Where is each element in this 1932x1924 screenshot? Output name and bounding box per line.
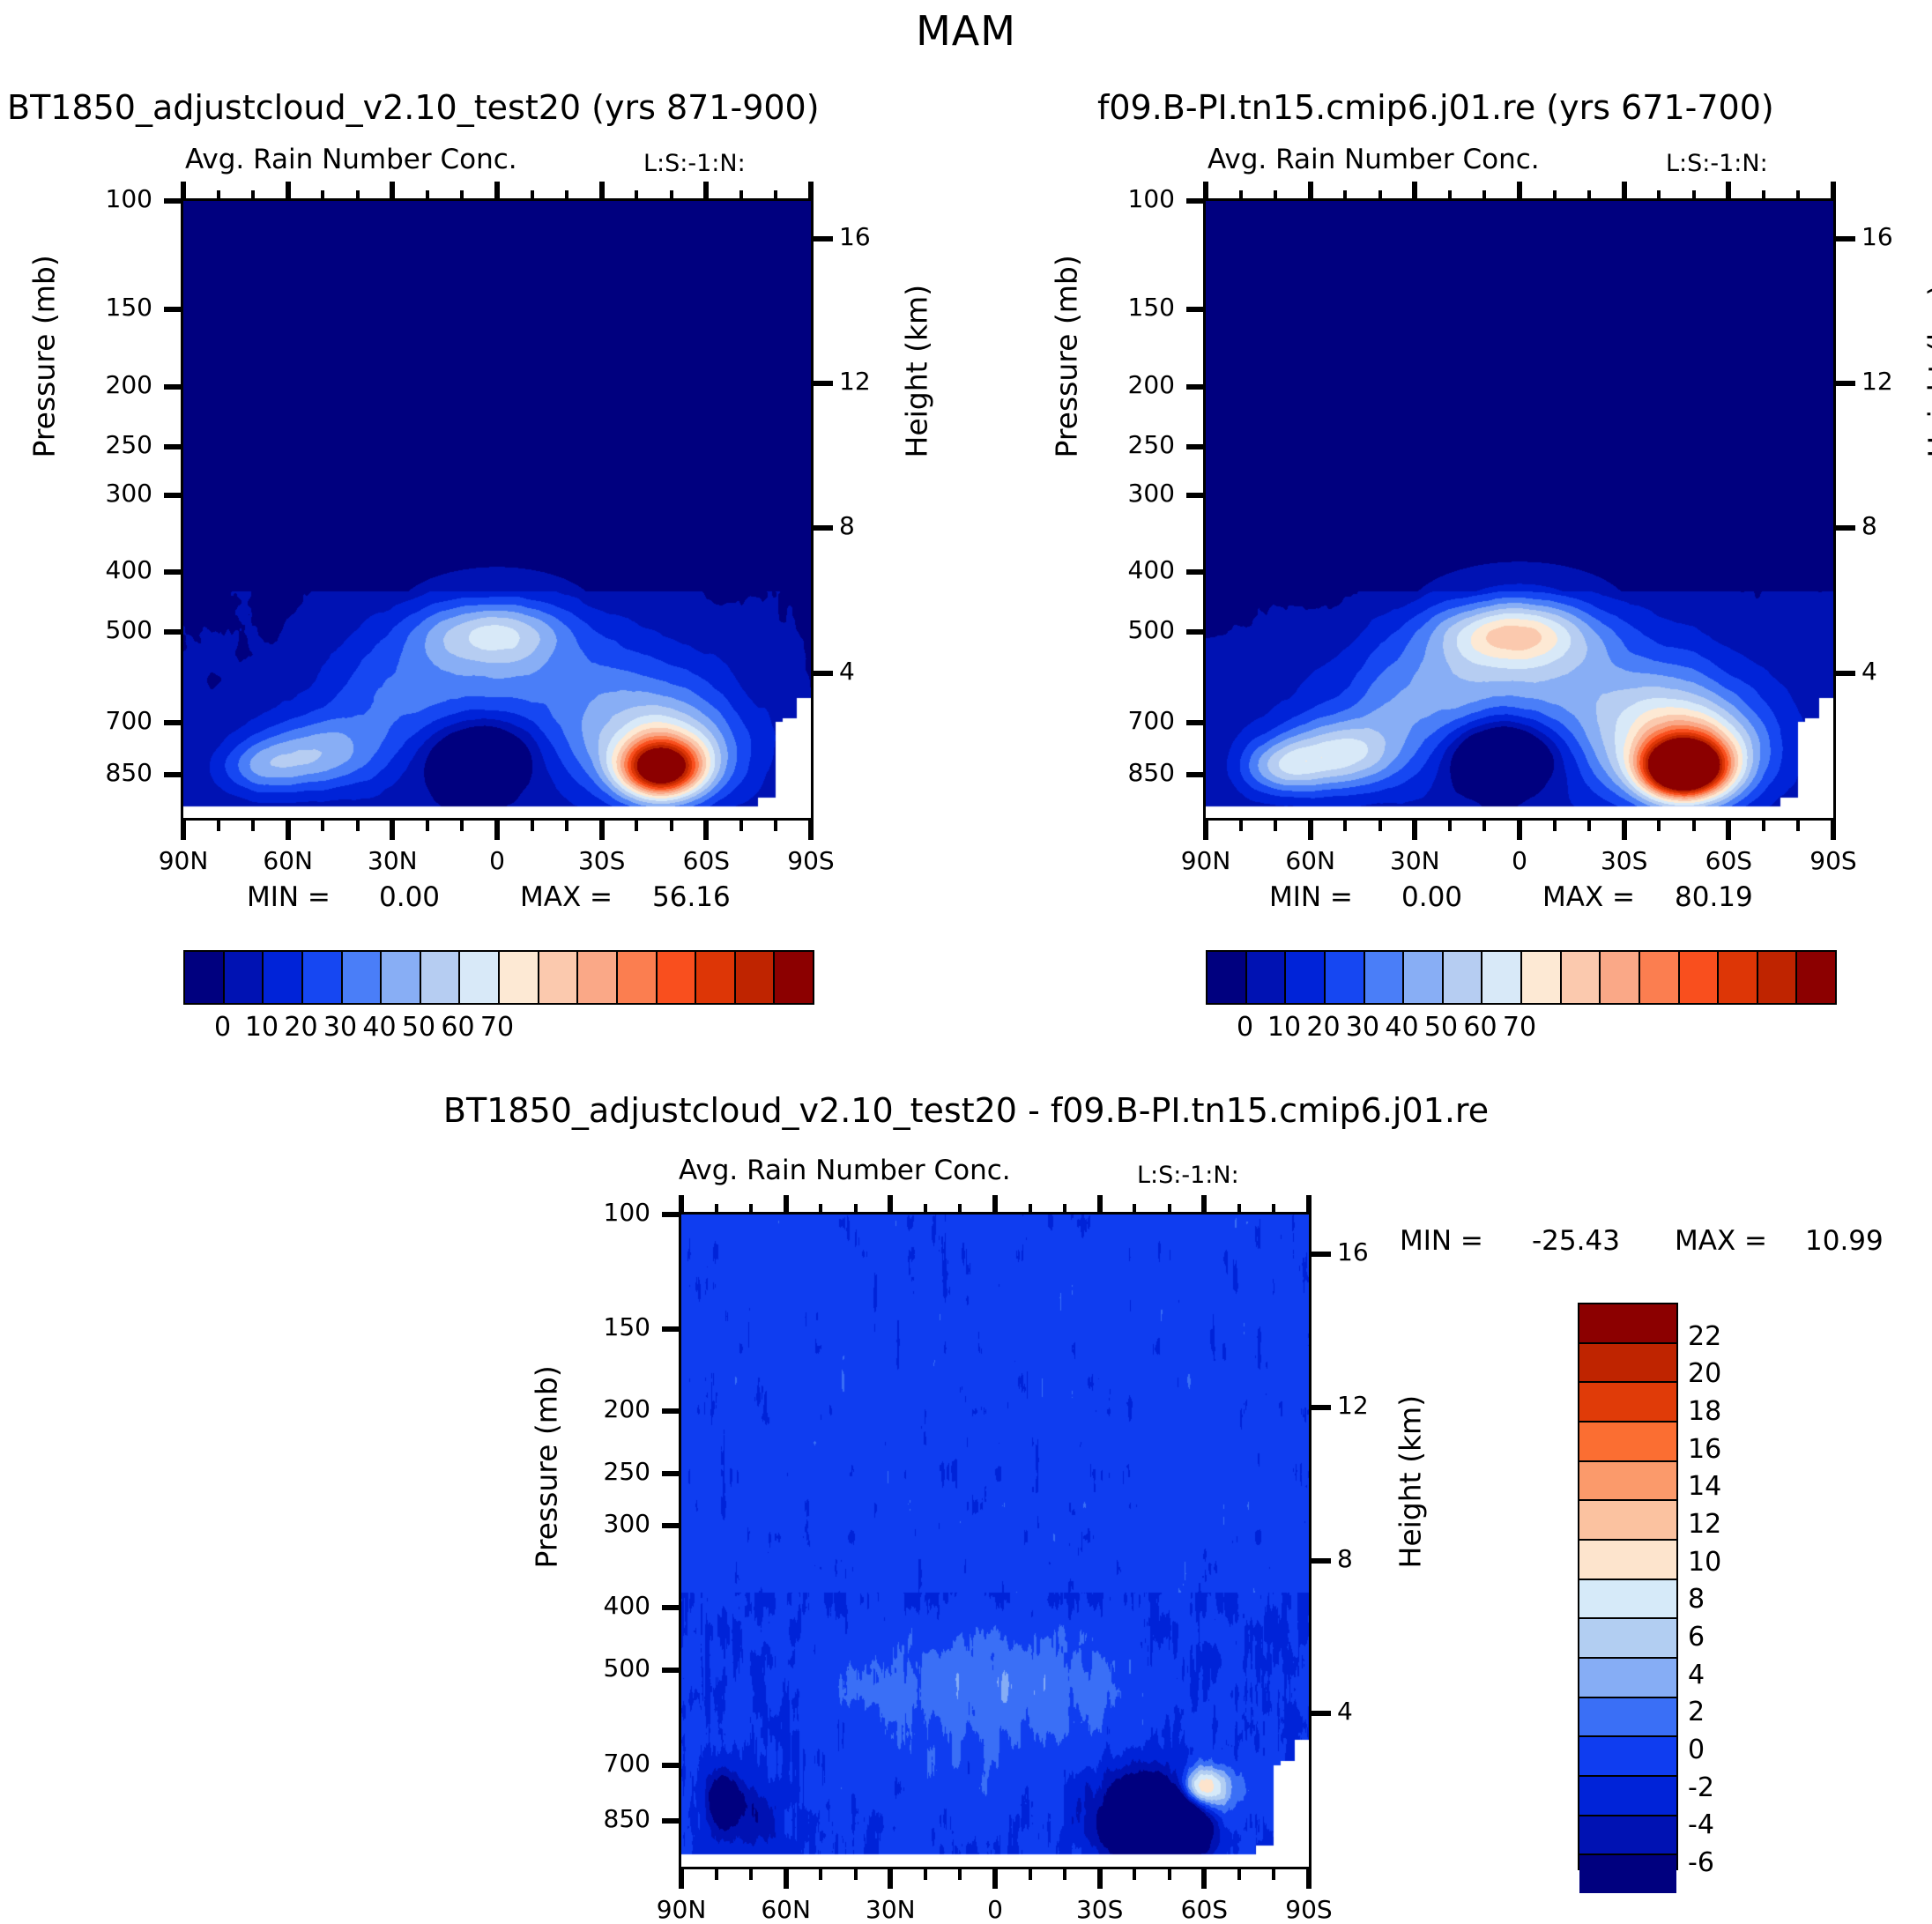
x-axis-tick-label: 0 <box>942 1895 1048 1924</box>
colorbar-segment[interactable] <box>460 952 500 1003</box>
colorbar-segment[interactable] <box>500 952 539 1003</box>
diff-panel-max-value: 10.99 <box>1805 1225 1884 1257</box>
y2-axis-tick-label: 8 <box>839 511 901 540</box>
y2-axis-tick-mark <box>1312 1405 1331 1410</box>
y-axis-tick-label: 100 <box>527 1198 650 1227</box>
y-axis-tick-label: 400 <box>1051 555 1175 584</box>
y-axis-tick-label: 300 <box>29 479 152 508</box>
colorbar-segment[interactable] <box>1579 1659 1676 1698</box>
x-axis-tick-mark <box>1308 821 1313 840</box>
colorbar-segment[interactable] <box>1579 1619 1676 1659</box>
y-axis-tick-mark <box>662 1326 681 1332</box>
x-axis-minor-tick <box>1482 821 1486 831</box>
right-panel-units: L:S:-1:N: <box>1666 150 1768 177</box>
y-axis-tick-label: 700 <box>1051 706 1175 735</box>
y2-axis-tick-label: 16 <box>1337 1237 1399 1267</box>
figure-season-title: MAM <box>0 7 1932 55</box>
x-axis-minor-tick <box>774 821 777 831</box>
x-axis-minor-tick <box>1448 821 1452 831</box>
diff-panel-plot-area <box>679 1212 1312 1869</box>
colorbar-segment[interactable] <box>1326 952 1365 1003</box>
x-axis-top-tick <box>1726 182 1731 201</box>
left-panel-min-value: 0.00 <box>379 881 440 913</box>
x-axis-minor-tick <box>635 821 638 831</box>
y-axis-tick-label: 300 <box>527 1509 650 1538</box>
x-axis-minor-tick <box>715 1869 718 1880</box>
colorbar-segment[interactable] <box>578 952 618 1003</box>
diff-panel-subtitle: Avg. Rain Number Conc. <box>679 1155 1011 1186</box>
colorbar-segment[interactable] <box>1719 952 1758 1003</box>
x-axis-minor-tick <box>1272 1869 1275 1880</box>
colorbar-tick-label: 6 <box>1688 1622 1767 1653</box>
left-panel-plot-area <box>181 198 814 821</box>
x-axis-tick-label: 90S <box>1256 1895 1362 1924</box>
x-axis-minor-tick <box>426 821 429 831</box>
y-axis-tick-label: 200 <box>527 1394 650 1423</box>
y-axis-tick-mark <box>164 307 183 312</box>
y2-axis-tick-label: 8 <box>1337 1544 1399 1573</box>
x-axis-top-tick <box>1203 182 1208 201</box>
x-axis-minor-tick <box>1063 1869 1066 1880</box>
y-axis-tick-mark <box>1186 444 1206 449</box>
y-axis-tick-label: 200 <box>1051 370 1175 399</box>
right-panel-title: f09.B-PI.tn15.cmip6.j01.re (yrs 671-700) <box>1097 88 1774 127</box>
x-axis-top-tick <box>1306 1195 1312 1215</box>
x-axis-tick-label: 0 <box>1467 846 1572 875</box>
x-axis-tick-label: 90N <box>130 846 236 875</box>
x-axis-top-minor-tick <box>749 1204 753 1215</box>
x-axis-top-tick <box>390 182 395 201</box>
y-axis-tick-mark <box>164 569 183 575</box>
colorbar-segment[interactable] <box>1601 952 1640 1003</box>
colorbar-segment[interactable] <box>1562 952 1601 1003</box>
y-axis-tick-mark <box>164 444 183 449</box>
x-axis-top-minor-tick <box>1448 190 1452 201</box>
colorbar-segment[interactable] <box>539 952 579 1003</box>
y2-axis-tick-mark <box>814 671 833 676</box>
x-axis-top-minor-tick <box>460 190 464 201</box>
right-panel-y2-axis-label: Height (km) <box>1922 264 1932 458</box>
x-axis-minor-tick <box>1796 821 1800 831</box>
y2-axis-tick-mark <box>1836 236 1855 241</box>
x-axis-minor-tick <box>565 821 568 831</box>
y2-axis-tick-mark <box>1836 525 1855 531</box>
diff-panel-min-label: MIN = <box>1400 1225 1483 1257</box>
x-axis-minor-tick <box>739 821 743 831</box>
colorbar-segment[interactable] <box>1404 952 1444 1003</box>
y-axis-tick-label: 100 <box>1051 184 1175 213</box>
x-axis-top-minor-tick <box>670 190 673 201</box>
y-axis-tick-mark <box>662 1668 681 1673</box>
colorbar-segment[interactable] <box>1482 952 1522 1003</box>
y-axis-tick-mark <box>1186 569 1206 575</box>
x-axis-top-minor-tick <box>1274 190 1277 201</box>
y-axis-tick-mark <box>662 1408 681 1414</box>
x-axis-tick-mark <box>494 821 500 840</box>
y-axis-tick-label: 250 <box>29 430 152 459</box>
y-axis-tick-label: 400 <box>527 1591 650 1620</box>
x-axis-top-minor-tick <box>426 190 429 201</box>
colorbar-tick-label: 4 <box>1688 1660 1767 1690</box>
left-panel-units: L:S:-1:N: <box>643 150 746 177</box>
x-axis-tick-label: 60S <box>1676 846 1781 875</box>
colorbar-tick-label: 12 <box>1688 1509 1767 1540</box>
x-axis-tick-mark <box>1831 821 1836 840</box>
y-axis-tick-label: 250 <box>527 1457 650 1486</box>
diff-panel-min-value: -25.43 <box>1532 1225 1620 1257</box>
x-axis-top-tick <box>286 182 291 201</box>
x-axis-minor-tick <box>749 1869 753 1880</box>
colorbar-segment[interactable] <box>1579 1777 1676 1816</box>
left-panel-y2-axis-label: Height (km) <box>900 264 934 458</box>
x-axis-minor-tick <box>1762 821 1765 831</box>
colorbar-segment[interactable] <box>421 952 461 1003</box>
x-axis-tick-label: 30N <box>837 1895 943 1924</box>
x-axis-minor-tick <box>924 1869 927 1880</box>
x-axis-top-minor-tick <box>1762 190 1765 201</box>
colorbar-tick-label: -6 <box>1688 1847 1767 1878</box>
x-axis-tick-mark <box>808 821 814 840</box>
y-axis-tick-mark <box>662 1471 681 1476</box>
y-axis-tick-label: 300 <box>1051 479 1175 508</box>
x-axis-top-minor-tick <box>1692 190 1696 201</box>
colorbar-segment[interactable] <box>1579 1541 1676 1580</box>
y-axis-tick-mark <box>164 772 183 777</box>
y-axis-tick-mark <box>164 720 183 725</box>
colorbar-segment[interactable] <box>658 952 697 1003</box>
y2-axis-tick-mark <box>814 381 833 386</box>
x-axis-top-tick <box>599 182 605 201</box>
y2-axis-tick-label: 8 <box>1861 511 1923 540</box>
x-axis-minor-tick <box>819 1869 822 1880</box>
colorbar-tick-label: 22 <box>1688 1321 1767 1352</box>
x-axis-minor-tick <box>1239 821 1243 831</box>
colorbar-segment[interactable] <box>1797 952 1835 1003</box>
x-axis-minor-tick <box>460 821 464 831</box>
y2-axis-tick-mark <box>1312 1252 1331 1257</box>
y-axis-tick-label: 500 <box>1051 615 1175 644</box>
x-axis-tick-mark <box>286 821 291 840</box>
x-axis-tick-mark <box>1726 821 1731 840</box>
right-panel-min-value: 0.00 <box>1401 881 1462 913</box>
colorbar-segment[interactable] <box>1579 1304 1676 1344</box>
colorbar-segment[interactable] <box>1680 952 1720 1003</box>
left-panel-title: BT1850_adjustcloud_v2.10_test20 (yrs 871… <box>7 88 820 127</box>
x-axis-tick-mark <box>703 821 709 840</box>
y-axis-tick-label: 150 <box>1051 293 1175 322</box>
x-axis-top-minor-tick <box>958 1204 962 1215</box>
colorbar-segment[interactable] <box>225 952 264 1003</box>
x-axis-tick-label: 30N <box>339 846 445 875</box>
colorbar-tick-label: 70 <box>1493 1012 1546 1043</box>
x-axis-top-minor-tick <box>1587 190 1591 201</box>
colorbar-segment[interactable] <box>303 952 343 1003</box>
y2-axis-tick-mark <box>1312 1558 1331 1564</box>
x-axis-minor-tick <box>1237 1869 1241 1880</box>
x-axis-minor-tick <box>1657 821 1661 831</box>
x-axis-top-minor-tick <box>1239 190 1243 201</box>
right-panel-colorbar[interactable] <box>1206 950 1837 1005</box>
x-axis-tick-label: 60N <box>733 1895 839 1924</box>
x-axis-top-minor-tick <box>635 190 638 201</box>
x-axis-tick-mark <box>1203 821 1208 840</box>
x-axis-top-tick <box>888 1195 893 1215</box>
colorbar-tick-label: 0 <box>1688 1735 1767 1765</box>
left-panel-colorbar[interactable] <box>183 950 814 1005</box>
x-axis-minor-tick <box>217 821 220 831</box>
colorbar-segment[interactable] <box>1579 1423 1676 1462</box>
colorbar-tick-label: 10 <box>1688 1547 1767 1578</box>
x-axis-top-minor-tick <box>1657 190 1661 201</box>
colorbar-segment[interactable] <box>618 952 658 1003</box>
x-axis-top-minor-tick <box>1796 190 1800 201</box>
y2-axis-tick-mark <box>1312 1711 1331 1716</box>
right-panel-max-label: MAX = <box>1542 881 1635 913</box>
x-axis-top-minor-tick <box>1029 1204 1032 1215</box>
diff-panel-title: BT1850_adjustcloud_v2.10_test20 - f09.B-… <box>0 1091 1932 1130</box>
colorbar-tick-label: -2 <box>1688 1772 1767 1803</box>
x-axis-top-tick <box>679 1195 684 1215</box>
y-axis-tick-label: 700 <box>527 1749 650 1778</box>
x-axis-top-tick <box>784 1195 789 1215</box>
x-axis-top-minor-tick <box>251 190 255 201</box>
colorbar-segment[interactable] <box>1579 1698 1676 1738</box>
x-axis-minor-tick <box>1587 821 1591 831</box>
x-axis-minor-tick <box>1692 821 1696 831</box>
y-axis-tick-label: 400 <box>29 555 152 584</box>
x-axis-minor-tick <box>321 821 324 831</box>
x-axis-minor-tick <box>1553 821 1557 831</box>
x-axis-top-tick <box>1412 182 1417 201</box>
x-axis-top-tick <box>181 182 186 201</box>
right-panel-min-label: MIN = <box>1269 881 1353 913</box>
colorbar-segment[interactable] <box>1522 952 1562 1003</box>
y-axis-tick-mark <box>1186 720 1206 725</box>
x-axis-minor-tick <box>1168 1869 1171 1880</box>
colorbar-segment[interactable] <box>775 952 813 1003</box>
x-axis-top-minor-tick <box>356 190 360 201</box>
x-axis-top-minor-tick <box>715 1204 718 1215</box>
x-axis-minor-tick <box>1133 1869 1136 1880</box>
x-axis-top-tick <box>494 182 500 201</box>
y2-axis-tick-label: 16 <box>1861 222 1923 251</box>
y2-axis-tick-mark <box>814 525 833 531</box>
x-axis-tick-label: 60N <box>1258 846 1364 875</box>
y-axis-tick-label: 500 <box>29 615 152 644</box>
left-panel-min-label: MIN = <box>247 881 331 913</box>
y2-axis-tick-mark <box>1836 671 1855 676</box>
colorbar-tick-label: 8 <box>1688 1584 1767 1615</box>
colorbar-tick-label: 70 <box>471 1012 524 1043</box>
x-axis-tick-label: 90S <box>758 846 864 875</box>
x-axis-minor-tick <box>356 821 360 831</box>
x-axis-top-tick <box>1097 1195 1103 1215</box>
diff-panel-contour-canvas <box>681 1215 1309 1867</box>
x-axis-minor-tick <box>854 1869 858 1880</box>
x-axis-minor-tick <box>251 821 255 831</box>
x-axis-top-tick <box>808 182 814 201</box>
x-axis-top-tick <box>1622 182 1627 201</box>
x-axis-minor-tick <box>670 821 673 831</box>
x-axis-tick-label: 0 <box>444 846 550 875</box>
y-axis-tick-label: 850 <box>527 1804 650 1833</box>
x-axis-top-minor-tick <box>1063 1204 1066 1215</box>
x-axis-top-minor-tick <box>1553 190 1557 201</box>
y-axis-tick-label: 250 <box>1051 430 1175 459</box>
x-axis-top-minor-tick <box>1482 190 1486 201</box>
y-axis-tick-mark <box>164 629 183 635</box>
colorbar-segment[interactable] <box>1207 952 1247 1003</box>
x-axis-minor-tick <box>531 821 534 831</box>
colorbar-segment[interactable] <box>1579 1383 1676 1423</box>
x-axis-top-minor-tick <box>565 190 568 201</box>
x-axis-tick-label: 60S <box>1151 1895 1257 1924</box>
left-panel-max-value: 56.16 <box>652 881 731 913</box>
y-axis-tick-mark <box>1186 629 1206 635</box>
x-axis-tick-label: 90N <box>1153 846 1259 875</box>
x-axis-tick-mark <box>390 821 395 840</box>
x-axis-top-minor-tick <box>321 190 324 201</box>
colorbar-segment[interactable] <box>382 952 421 1003</box>
colorbar-tick-label: 16 <box>1688 1434 1767 1465</box>
diff-panel-units: L:S:-1:N: <box>1137 1162 1239 1189</box>
x-axis-minor-tick <box>1343 821 1347 831</box>
colorbar-segment[interactable] <box>1247 952 1287 1003</box>
colorbar-tick-label: 2 <box>1688 1697 1767 1727</box>
x-axis-top-minor-tick <box>739 190 743 201</box>
colorbar-tick-label: 18 <box>1688 1396 1767 1427</box>
y-axis-tick-mark <box>662 1523 681 1528</box>
y-axis-tick-label: 150 <box>527 1312 650 1341</box>
x-axis-top-minor-tick <box>1168 1204 1171 1215</box>
x-axis-tick-mark <box>1412 821 1417 840</box>
x-axis-tick-mark <box>599 821 605 840</box>
x-axis-top-tick <box>992 1195 998 1215</box>
y-axis-tick-label: 500 <box>527 1653 650 1683</box>
y-axis-tick-mark <box>1186 307 1206 312</box>
colorbar-segment[interactable] <box>1579 1580 1676 1620</box>
colorbar-segment[interactable] <box>1579 1501 1676 1541</box>
colorbar-segment[interactable] <box>185 952 225 1003</box>
y2-axis-tick-label: 12 <box>1337 1391 1399 1420</box>
x-axis-tick-label: 30S <box>1047 1895 1153 1924</box>
y-axis-tick-label: 850 <box>1051 758 1175 787</box>
colorbar-segment[interactable] <box>696 952 736 1003</box>
x-axis-top-minor-tick <box>217 190 220 201</box>
diff-panel-colorbar[interactable] <box>1578 1303 1678 1870</box>
diff-panel-max-label: MAX = <box>1675 1225 1767 1257</box>
colorbar-segment[interactable] <box>1579 1462 1676 1502</box>
colorbar-segment[interactable] <box>264 952 303 1003</box>
x-axis-top-minor-tick <box>531 190 534 201</box>
x-axis-tick-label: 30N <box>1362 846 1468 875</box>
x-axis-top-tick <box>703 182 709 201</box>
x-axis-minor-tick <box>1274 821 1277 831</box>
x-axis-top-minor-tick <box>1272 1204 1275 1215</box>
y-axis-tick-mark <box>662 1763 681 1768</box>
colorbar-segment[interactable] <box>1579 1816 1676 1856</box>
y2-axis-tick-label: 16 <box>839 222 901 251</box>
y2-axis-tick-label: 12 <box>1861 367 1923 396</box>
colorbar-segment[interactable] <box>1579 1855 1676 1893</box>
x-axis-tick-label: 30S <box>1572 846 1677 875</box>
right-panel-plot-area <box>1203 198 1836 821</box>
y-axis-tick-mark <box>662 1605 681 1610</box>
y-axis-tick-mark <box>1186 493 1206 498</box>
x-axis-tick-label: 60S <box>653 846 759 875</box>
x-axis-minor-tick <box>1029 1869 1032 1880</box>
y-axis-tick-mark <box>164 384 183 390</box>
x-axis-top-tick <box>1831 182 1836 201</box>
colorbar-segment[interactable] <box>1286 952 1326 1003</box>
x-axis-top-minor-tick <box>1378 190 1382 201</box>
colorbar-segment[interactable] <box>343 952 383 1003</box>
colorbar-tick-label: 14 <box>1688 1471 1767 1502</box>
x-axis-top-tick <box>1201 1195 1207 1215</box>
y2-axis-tick-mark <box>1836 381 1855 386</box>
x-axis-top-minor-tick <box>1343 190 1347 201</box>
x-axis-tick-mark <box>181 821 186 840</box>
y2-axis-tick-label: 4 <box>1861 657 1923 686</box>
y-axis-tick-mark <box>662 1818 681 1824</box>
right-panel-max-value: 80.19 <box>1675 881 1753 913</box>
x-axis-top-minor-tick <box>1133 1204 1136 1215</box>
colorbar-segment[interactable] <box>1579 1737 1676 1777</box>
x-axis-top-minor-tick <box>924 1204 927 1215</box>
colorbar-segment[interactable] <box>1758 952 1798 1003</box>
left-panel-contour-canvas <box>183 201 811 818</box>
x-axis-top-minor-tick <box>774 190 777 201</box>
colorbar-segment[interactable] <box>1640 952 1680 1003</box>
colorbar-tick-label: 20 <box>1688 1358 1767 1389</box>
left-panel-max-label: MAX = <box>520 881 613 913</box>
x-axis-minor-tick <box>1378 821 1382 831</box>
y-axis-tick-mark <box>164 493 183 498</box>
x-axis-tick-label: 60N <box>235 846 341 875</box>
colorbar-segment[interactable] <box>736 952 776 1003</box>
y2-axis-tick-label: 4 <box>1337 1697 1399 1726</box>
y-axis-tick-label: 700 <box>29 706 152 735</box>
x-axis-top-minor-tick <box>854 1204 858 1215</box>
colorbar-segment[interactable] <box>1365 952 1405 1003</box>
x-axis-tick-label: 30S <box>549 846 655 875</box>
colorbar-tick-label: -4 <box>1688 1809 1767 1840</box>
y2-axis-tick-mark <box>814 236 833 241</box>
y-axis-tick-label: 150 <box>29 293 152 322</box>
x-axis-minor-tick <box>958 1869 962 1880</box>
x-axis-top-minor-tick <box>1237 1204 1241 1215</box>
left-panel-subtitle: Avg. Rain Number Conc. <box>185 144 517 175</box>
y-axis-tick-label: 100 <box>29 184 152 213</box>
y-axis-tick-mark <box>1186 384 1206 390</box>
colorbar-segment[interactable] <box>1444 952 1483 1003</box>
y2-axis-tick-label: 4 <box>839 657 901 686</box>
x-axis-top-tick <box>1308 182 1313 201</box>
x-axis-top-tick <box>1517 182 1522 201</box>
y-axis-tick-label: 850 <box>29 758 152 787</box>
right-panel-subtitle: Avg. Rain Number Conc. <box>1207 144 1540 175</box>
x-axis-top-minor-tick <box>819 1204 822 1215</box>
y-axis-tick-label: 200 <box>29 370 152 399</box>
x-axis-tick-mark <box>1622 821 1627 840</box>
x-axis-tick-mark <box>1517 821 1522 840</box>
right-panel-contour-canvas <box>1206 201 1833 818</box>
colorbar-segment[interactable] <box>1579 1344 1676 1384</box>
y2-axis-tick-label: 12 <box>839 367 901 396</box>
x-axis-tick-label: 90S <box>1780 846 1886 875</box>
x-axis-tick-label: 90N <box>628 1895 734 1924</box>
y-axis-tick-mark <box>1186 772 1206 777</box>
